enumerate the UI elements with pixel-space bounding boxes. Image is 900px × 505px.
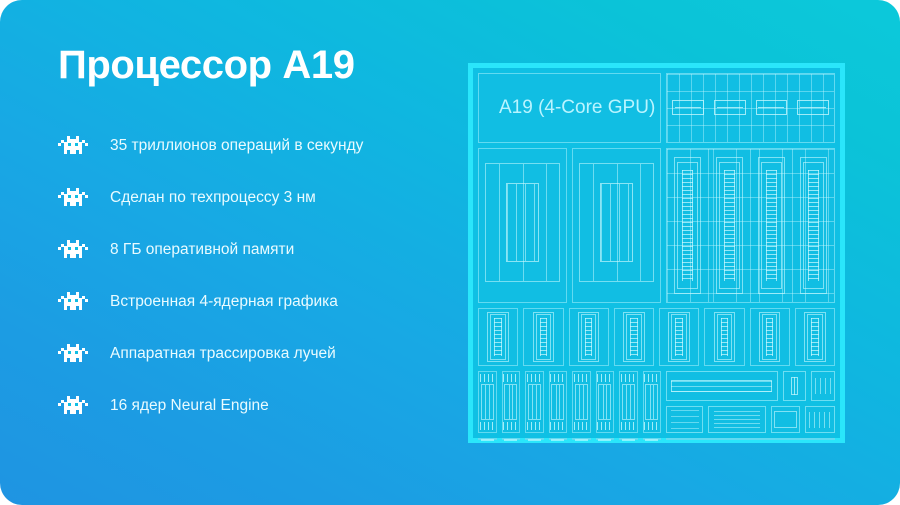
chip-block-memory-bank — [619, 371, 638, 433]
chip-block-memory-bank — [525, 438, 544, 440]
feature-list: 35 триллионов операций в секунду — [58, 120, 458, 432]
chip-label: A19 (4-Core GPU) — [499, 97, 655, 119]
chip-block-memory-bank — [478, 438, 497, 440]
chip-block-cache-5 — [704, 308, 744, 366]
chip-block-cache-6 — [750, 308, 790, 366]
chip-block-memory-bank — [572, 371, 591, 433]
chip-block-fabric-3 — [771, 406, 801, 433]
chip-block-io-top — [666, 73, 835, 143]
invader-icon — [58, 239, 88, 261]
chip-block-memory-bank — [525, 371, 544, 433]
chip-block-memory-bank — [643, 438, 662, 440]
list-item: 35 триллионов операций в секунду — [58, 120, 458, 172]
invader-icon — [58, 291, 88, 313]
chip-block-cache-3 — [614, 308, 654, 366]
chip-block-cpu-cluster-1 — [478, 148, 567, 303]
chip-block-memory-bank — [549, 438, 568, 440]
list-item-label: 16 ядер Neural Engine — [110, 398, 269, 414]
list-item-label: 35 триллионов операций в секунду — [110, 138, 363, 154]
chip-block-cpu-cluster-2 — [572, 148, 661, 303]
list-item: Сделан по техпроцессу 3 нм — [58, 172, 458, 224]
chip-block-memory-bank — [596, 371, 615, 433]
slide-root: Процессор A19 — [0, 0, 900, 505]
chip-block-fabric-2 — [708, 406, 765, 433]
list-item: 16 ядер Neural Engine — [58, 380, 458, 432]
list-item-label: Сделан по техпроцессу 3 нм — [110, 190, 316, 206]
chip-block-memory-bank — [596, 438, 615, 440]
chip-die-diagram: A19 (4-Core GPU) — [468, 63, 845, 443]
page-title: Процессор A19 — [58, 44, 458, 86]
list-item: Встроенная 4-ядерная графика — [58, 276, 458, 328]
invader-icon — [58, 395, 88, 417]
invader-icon — [58, 343, 88, 365]
chip-block-cache-0 — [478, 308, 518, 366]
content-column: Процессор A19 — [58, 44, 458, 432]
invader-icon — [58, 135, 88, 157]
invader-icon — [58, 187, 88, 209]
chip-block-cache-1 — [523, 308, 563, 366]
list-item-label: 8 ГБ оперативной памяти — [110, 242, 294, 258]
list-item: 8 ГБ оперативной памяти — [58, 224, 458, 276]
list-item: Аппаратная трассировка лучей — [58, 328, 458, 380]
chip-block-phy-2 — [811, 371, 835, 401]
chip-block-cache-4 — [659, 308, 699, 366]
chip-block-memory-bank — [572, 438, 591, 440]
chip-block-neural-engine — [666, 438, 835, 440]
chip-block-memory-bank — [478, 371, 497, 433]
chip-block-memory-bank — [619, 438, 638, 440]
chip-block-memory-bank — [549, 371, 568, 433]
chip-block-cache-7 — [795, 308, 835, 366]
chip-block-memory-bank — [502, 371, 521, 433]
list-item-label: Аппаратная трассировка лучей — [110, 346, 336, 362]
chip-block-phy-1 — [783, 371, 807, 401]
chip-block-controller — [666, 371, 778, 401]
chip-block-fabric-1 — [666, 406, 703, 433]
chip-block-memory-bank — [643, 371, 662, 433]
chip-block-gpu-cores — [666, 148, 835, 303]
chip-block-cache-2 — [569, 308, 609, 366]
chip-block-memory-bank — [502, 438, 521, 440]
chip-label-block: A19 (4-Core GPU) — [478, 73, 661, 143]
chip-block-fabric-4 — [805, 406, 835, 433]
list-item-label: Встроенная 4-ядерная графика — [110, 294, 338, 310]
